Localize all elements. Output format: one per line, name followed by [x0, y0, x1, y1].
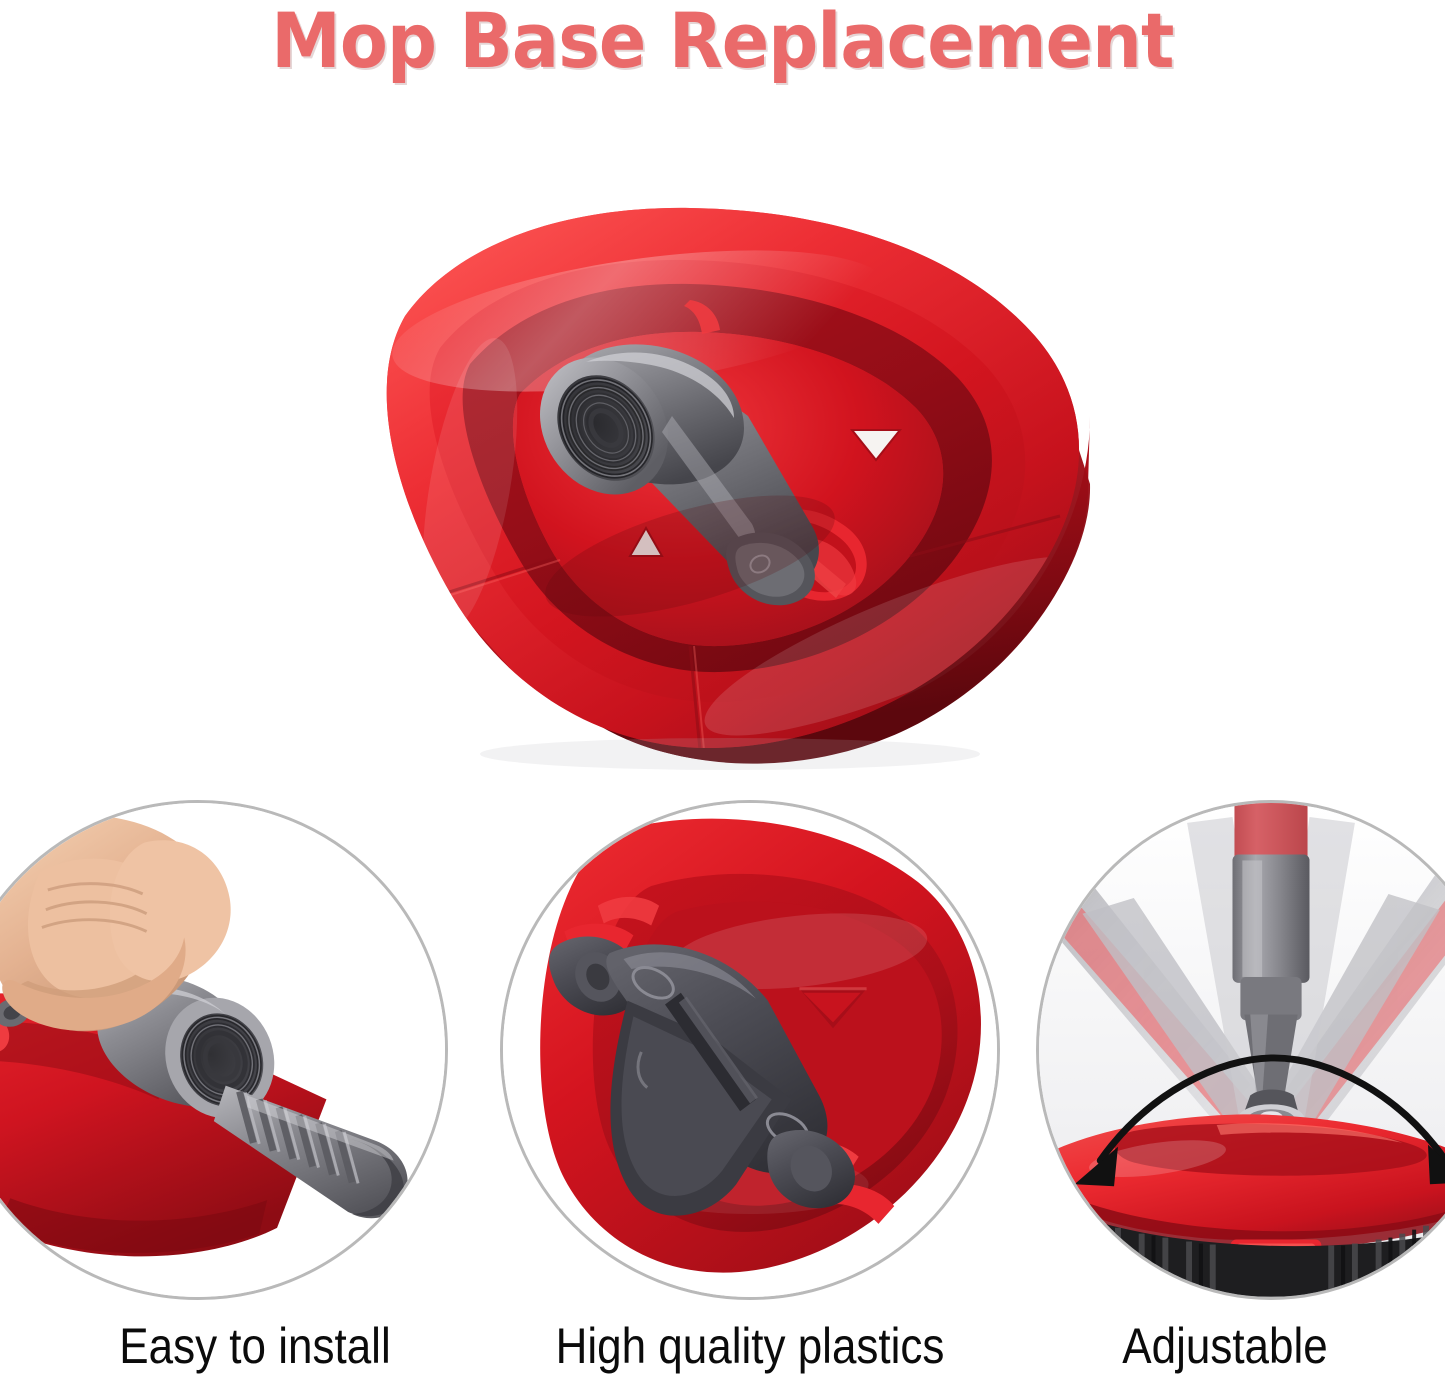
caption-high-quality-plastics: High quality plastics — [504, 1314, 997, 1378]
thumbnail-high-quality-plastics — [500, 800, 1000, 1300]
hero-product-image — [0, 86, 1445, 786]
easy-to-install-illustration — [0, 803, 445, 1297]
thumbnail-adjustable — [1036, 800, 1445, 1300]
thumbnail-easy-to-install — [0, 800, 448, 1300]
high-quality-plastics-illustration — [503, 803, 997, 1297]
thumbnail-row — [0, 800, 1445, 1310]
mop-head — [1041, 1114, 1445, 1261]
caption-adjustable: Adjustable — [1067, 1314, 1384, 1378]
page-title: Mop Base Replacement — [271, 3, 1173, 79]
caption-easy-to-install: Easy to install — [66, 1314, 444, 1378]
mop-base-illustration — [0, 86, 1445, 786]
title-bar: Mop Base Replacement — [0, 0, 1445, 82]
product-shadow — [480, 738, 980, 770]
adjustable-illustration — [1039, 803, 1445, 1297]
caption-row: Easy to install High quality plastics Ad… — [0, 1314, 1445, 1378]
